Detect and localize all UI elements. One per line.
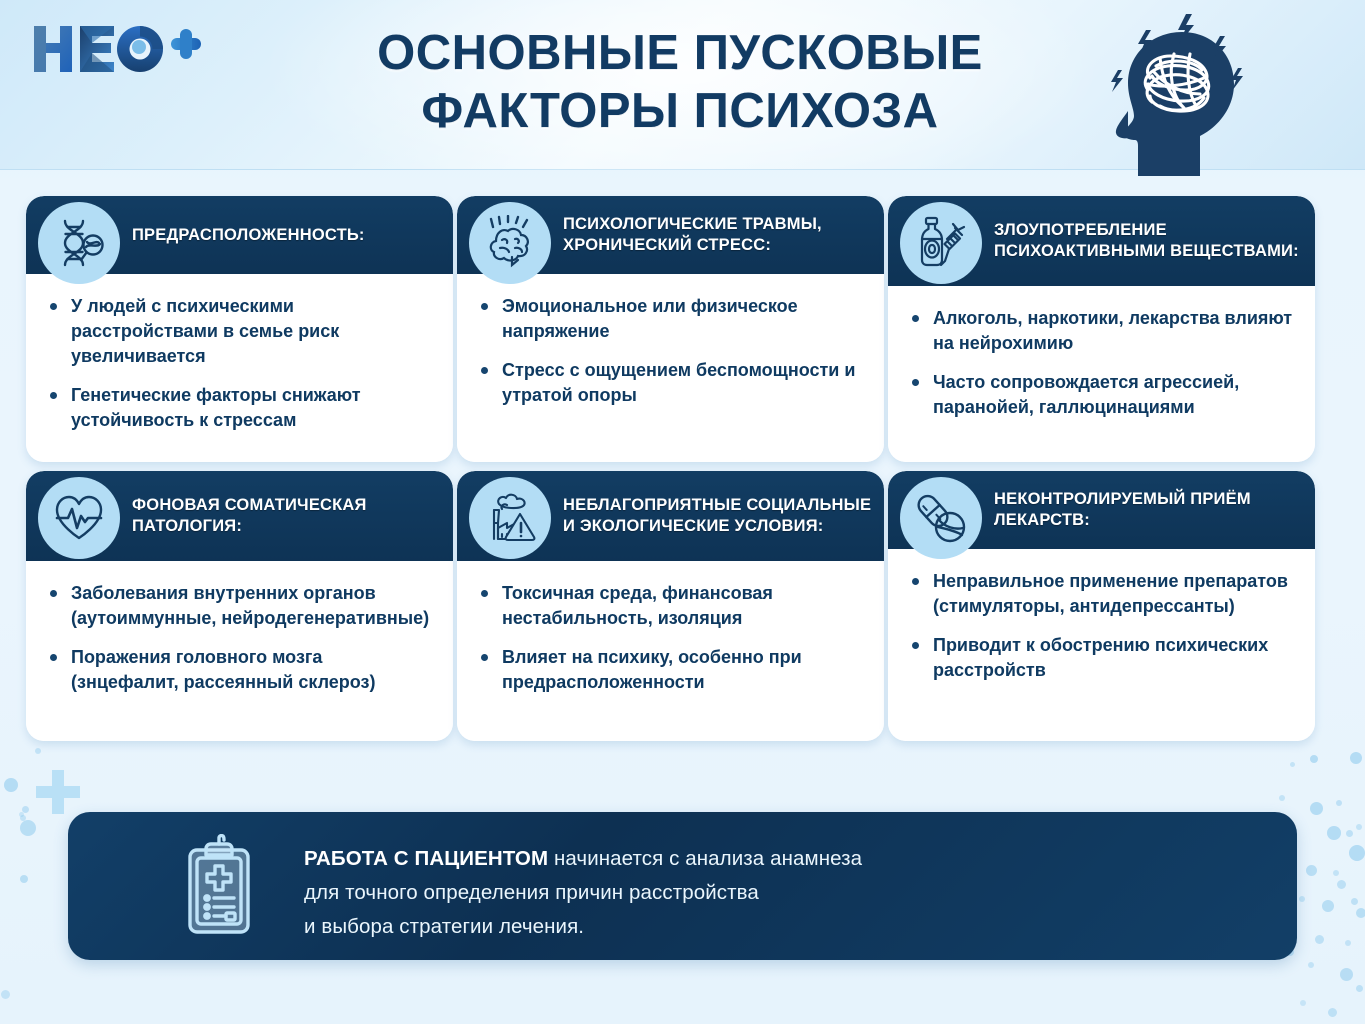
- card-body: Заболевания внутренних органов (аутоимму…: [26, 561, 453, 741]
- list-item: Стресс с ощущением беспомощности и утрат…: [479, 358, 864, 408]
- card-substance-abuse: ЗЛОУПОТРЕБЛЕНИЕ ПСИХОАКТИВНЫМИ ВЕЩЕСТВАМ…: [888, 196, 1315, 462]
- list-item: Приводит к обострению психических расстр…: [910, 633, 1295, 683]
- page-title-line2: ФАКТОРЫ ПСИХОЗА: [330, 82, 1030, 140]
- banner-line-2: для точного определения причин расстройс…: [304, 876, 862, 910]
- list-item: Часто сопровождается агрессией, паранойе…: [910, 370, 1295, 420]
- list-item: У людей с психическими расстройствами в …: [48, 294, 433, 369]
- card-body: Неправильное применение препаратов (стим…: [888, 549, 1315, 741]
- stressed-brain-icon: [469, 202, 551, 284]
- factors-grid: ПРЕДРАСПОЛОЖЕННОСТЬ: У людей с психическ…: [26, 196, 1339, 741]
- banner-text: РАБОТА С ПАЦИЕНТОМ начинается с анализа …: [304, 842, 862, 944]
- card-predisposition: ПРЕДРАСПОЛОЖЕННОСТЬ: У людей с психическ…: [26, 196, 453, 462]
- card-psychological-trauma: ПСИХОЛОГИЧЕСКИЕ ТРАВМЫ, ХРОНИЧЕСКИЙ СТРЕ…: [457, 196, 884, 462]
- list-item: Генетические факторы снижают устойчивост…: [48, 383, 433, 433]
- heart-pulse-icon: [38, 477, 120, 559]
- neo-plus-logo: [26, 20, 201, 82]
- banner-line-1-rest: начинается с анализа анамнеза: [548, 847, 862, 870]
- card-body: У людей с психическими расстройствами в …: [26, 274, 453, 462]
- tangled-thoughts-head-icon: [1090, 6, 1265, 176]
- dna-magnifier-icon: [38, 202, 120, 284]
- card-body: Эмоциональное или физическое напряжение …: [457, 274, 884, 462]
- list-item: Поражения головного мозга (знцефалит, ра…: [48, 645, 433, 695]
- card-body: Алкоголь, наркотики, лекарства влияют на…: [888, 286, 1315, 462]
- page-title: ОСНОВНЫЕ ПУСКОВЫЕ ФАКТОРЫ ПСИХОЗА: [330, 24, 1030, 140]
- header-bar: ОСНОВНЫЕ ПУСКОВЫЕ ФАКТОРЫ ПСИХОЗА: [0, 0, 1365, 170]
- pills-icon: [900, 477, 982, 559]
- list-item: Токсичная среда, финансовая нестабильнос…: [479, 581, 864, 631]
- card-uncontrolled-medication: НЕКОНТРОЛИРУЕМЫЙ ПРИЁМ ЛЕКАРСТВ: Неправи…: [888, 471, 1315, 741]
- list-item: Алкоголь, наркотики, лекарства влияют на…: [910, 306, 1295, 356]
- banner-line-1: РАБОТА С ПАЦИЕНТОМ начинается с анализа …: [304, 842, 862, 876]
- factory-warning-icon: [469, 477, 551, 559]
- patient-work-banner: РАБОТА С ПАЦИЕНТОМ начинается с анализа …: [68, 812, 1297, 960]
- list-item: Эмоциональное или физическое напряжение: [479, 294, 864, 344]
- banner-bold-lead: РАБОТА С ПАЦИЕНТОМ: [304, 847, 548, 870]
- card-somatic-pathology: ФОНОВАЯ СОМАТИЧЕСКАЯ ПАТОЛОГИЯ: Заболева…: [26, 471, 453, 741]
- list-item: Заболевания внутренних органов (аутоимму…: [48, 581, 433, 631]
- list-item: Влияет на психику, особенно при предрасп…: [479, 645, 864, 695]
- banner-line-3: и выбора стратегии лечения.: [304, 910, 862, 944]
- infographic-page: ОСНОВНЫЕ ПУСКОВЫЕ ФАКТОРЫ ПСИХОЗА: [0, 0, 1365, 1024]
- card-social-ecological: НЕБЛАГОПРИЯТНЫЕ СОЦИАЛЬНЫЕ И ЭКОЛОГИЧЕСК…: [457, 471, 884, 741]
- clipboard-medical-icon: [174, 834, 278, 938]
- card-body: Токсичная среда, финансовая нестабильнос…: [457, 561, 884, 741]
- list-item: Неправильное применение препаратов (стим…: [910, 569, 1295, 619]
- page-title-line1: ОСНОВНЫЕ ПУСКОВЫЕ: [377, 26, 983, 80]
- bottle-syringe-icon: [900, 202, 982, 284]
